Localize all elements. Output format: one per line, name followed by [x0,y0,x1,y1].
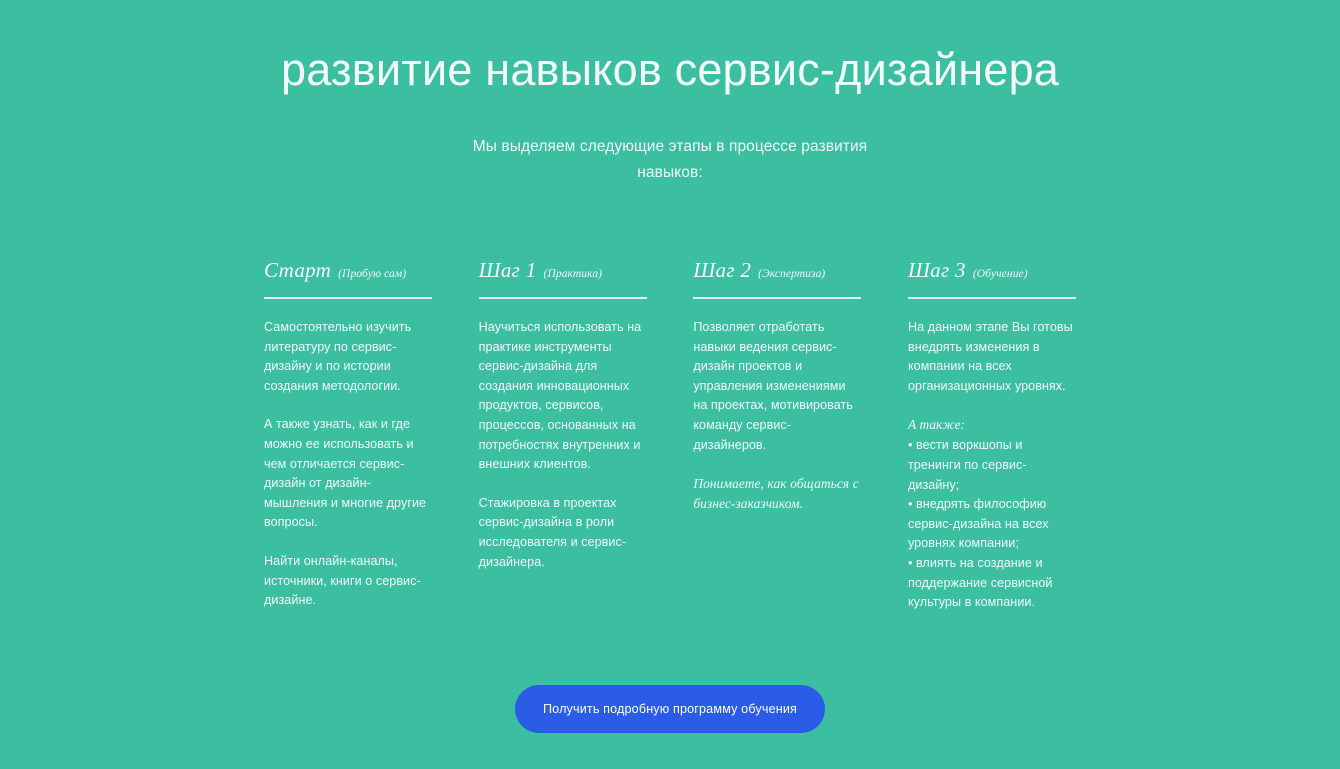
page-root: развитие навыков сервис-дизайнера Мы выд… [0,0,1340,769]
stage-column-step-1: Шаг 1 (Практика) Научиться использовать … [479,258,647,572]
page-title: развитие навыков сервис-дизайнера [0,44,1340,96]
list-item: вести воркшопы и тренинги по сервис-диза… [908,436,1076,495]
stage-body: Самостоятельно изучить литературу по сер… [264,318,432,611]
stage-body: Позволяет отработать навыки ведения серв… [693,318,861,514]
stage-heading: Шаг 1 (Практика) [479,258,647,282]
stage-body: Научиться использовать на практике инстр… [479,318,647,572]
stage-paragraph-emphasis: Понимаете, как общаться с бизнес-заказчи… [693,474,861,514]
stage-divider [693,297,861,299]
stage-note: (Экспертиза) [758,266,825,282]
stage-column-start: Старт (Пробую сам) Самостоятельно изучит… [264,258,432,611]
list-item: внедрять философию сервис-дизайна на все… [908,495,1076,554]
stage-heading: Шаг 3 (Обучение) [908,258,1076,282]
stage-paragraph: Позволяет отработать навыки ведения серв… [693,318,861,455]
stage-paragraph: Стажировка в проектах сервис-дизайна в р… [479,494,647,572]
stage-divider [908,297,1076,299]
stage-divider [264,297,432,299]
stage-paragraph: Найти онлайн-каналы, источники, книги о … [264,552,432,611]
stage-list-lead: А также: [908,415,1076,435]
hero-section: развитие навыков сервис-дизайнера Мы выд… [0,0,1340,186]
page-subtitle: Мы выделяем следующие этапы в процессе р… [470,134,870,186]
stage-heading: Шаг 2 (Экспертиза) [693,258,861,282]
stage-paragraph: На данном этапе Вы готовы внедрять измен… [908,318,1076,396]
stage-body: На данном этапе Вы готовы внедрять измен… [908,318,1076,613]
stages-columns: Старт (Пробую сам) Самостоятельно изучит… [264,258,1076,613]
stage-paragraph: Научиться использовать на практике инстр… [479,318,647,475]
stage-paragraph: Самостоятельно изучить литературу по сер… [264,318,432,396]
stage-column-step-2: Шаг 2 (Экспертиза) Позволяет отработать … [693,258,861,514]
stage-title: Шаг 2 [693,258,751,282]
cta-section: Получить подробную программу обучения [0,685,1340,733]
stage-paragraph: А также узнать, как и где можно ее испол… [264,415,432,533]
stage-note: (Практика) [544,266,603,282]
stage-divider [479,297,647,299]
stage-heading: Старт (Пробую сам) [264,258,432,282]
stage-column-step-3: Шаг 3 (Обучение) На данном этапе Вы гото… [908,258,1076,613]
stage-note: (Пробую сам) [338,266,406,282]
stage-title: Шаг 1 [479,258,537,282]
stage-bullet-list: вести воркшопы и тренинги по сервис-диза… [908,436,1076,612]
stage-note: (Обучение) [973,266,1028,282]
get-program-button[interactable]: Получить подробную программу обучения [515,685,825,733]
stage-title: Шаг 3 [908,258,966,282]
list-item: влиять на создание и поддержание сервисн… [908,554,1076,613]
stage-title: Старт [264,258,331,282]
